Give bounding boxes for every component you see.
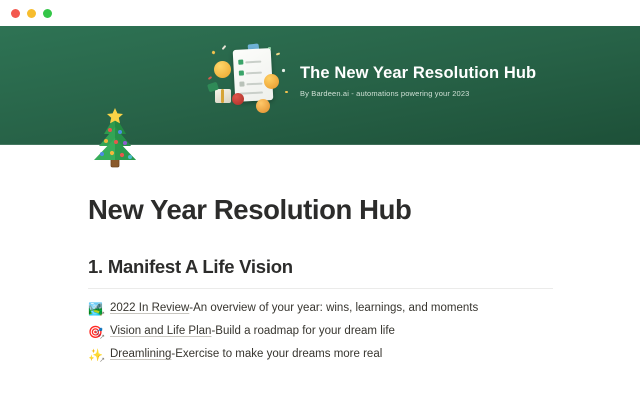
- list-item-description: Build a roadmap for your dream life: [215, 324, 395, 339]
- maximize-window-icon[interactable]: [43, 9, 52, 18]
- banner-subtitle: By Bardeen.ai - automations powering you…: [300, 89, 536, 98]
- sparkles-emoji: ✨ ↗: [88, 347, 106, 363]
- sub-page-link-list: 🏞️ ↗ 2022 In Review - An overview of you…: [88, 298, 568, 366]
- banner-content: The New Year Resolution Hub By Bardeen.a…: [206, 43, 536, 117]
- banner-title: The New Year Resolution Hub: [300, 64, 536, 82]
- page-body: New Year Resolution Hub 1. Manifest A Li…: [0, 145, 640, 400]
- link-arrow-icon: ↗: [99, 334, 105, 341]
- list-item-description: Exercise to make your dreams more real: [175, 347, 382, 362]
- dart-target-emoji: 🎯 ↗: [88, 324, 106, 340]
- window-titlebar: [0, 0, 640, 26]
- link-arrow-icon: ↗: [99, 357, 105, 364]
- list-item-description: An overview of your year: wins, learning…: [193, 301, 478, 316]
- landscape-photo-emoji: 🏞️ ↗: [88, 301, 106, 317]
- link-arrow-icon: ↗: [99, 311, 105, 318]
- banner-text-block: The New Year Resolution Hub By Bardeen.a…: [300, 62, 536, 97]
- list-item[interactable]: ✨ ↗ Dreamlining - Exercise to make your …: [88, 344, 568, 366]
- section-divider: [88, 288, 553, 289]
- sub-page-link-dreamlining[interactable]: Dreamlining: [110, 347, 171, 362]
- traffic-light-group: [11, 9, 52, 18]
- close-window-icon[interactable]: [11, 9, 20, 18]
- app-window: The New Year Resolution Hub By Bardeen.a…: [0, 0, 640, 400]
- page-content: New Year Resolution Hub 1. Manifest A Li…: [88, 145, 568, 367]
- list-item[interactable]: 🎯 ↗ Vision and Life Plan - Build a roadm…: [88, 321, 568, 343]
- sub-page-link-2022-in-review[interactable]: 2022 In Review: [110, 301, 189, 316]
- page-title: New Year Resolution Hub: [88, 145, 568, 226]
- page-icon-christmas-tree[interactable]: [86, 108, 144, 170]
- section-heading-1: 1. Manifest A Life Vision: [88, 226, 568, 278]
- sub-page-link-vision-and-life-plan[interactable]: Vision and Life Plan: [110, 324, 211, 339]
- minimize-window-icon[interactable]: [27, 9, 36, 18]
- list-item[interactable]: 🏞️ ↗ 2022 In Review - An overview of you…: [88, 298, 568, 320]
- new-year-checklist-illustration: [206, 43, 290, 117]
